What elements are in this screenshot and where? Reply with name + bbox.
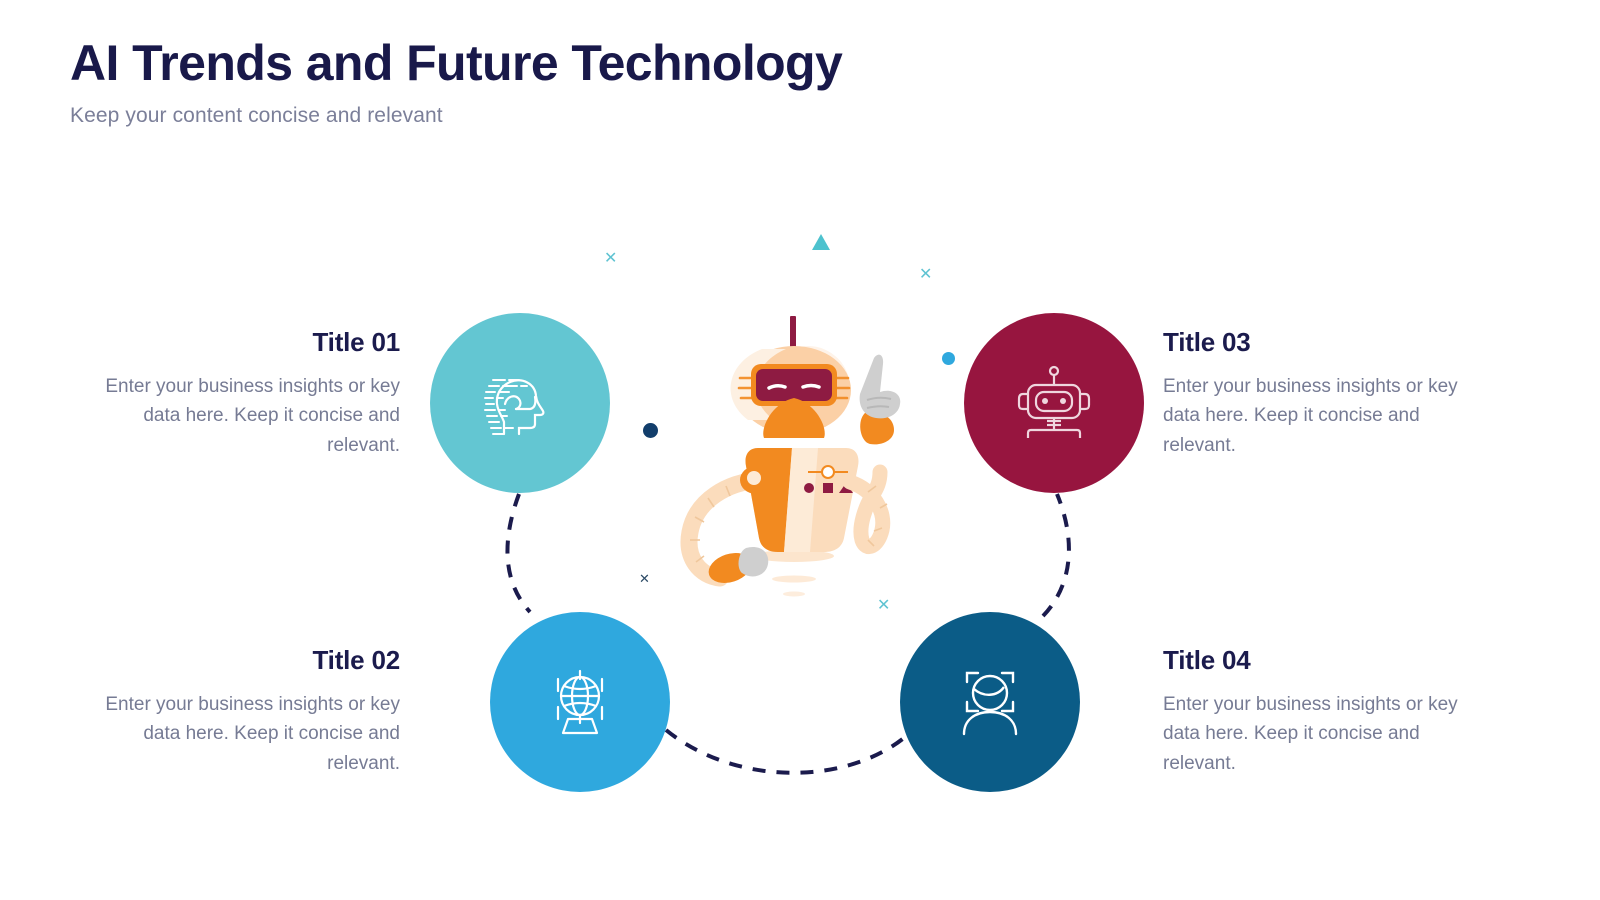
item-title-02: Title 02 <box>100 645 400 676</box>
blue-dot-marker <box>942 352 955 365</box>
item-title-04: Title 04 <box>1163 645 1463 676</box>
cross-mark-icon: ✕ <box>877 598 890 614</box>
item-title-01: Title 01 <box>100 327 400 358</box>
item-text-block-01: Title 01 Enter your business insights or… <box>100 327 400 460</box>
hologram-globe-icon <box>541 663 619 741</box>
cross-mark-icon: ✕ <box>604 251 617 267</box>
robot-head-icon <box>1014 364 1094 442</box>
item-body-02: Enter your business insights or key data… <box>100 690 400 778</box>
navy-dot-marker <box>643 423 658 438</box>
node-circle-03[interactable] <box>964 313 1144 493</box>
item-title-03: Title 03 <box>1163 327 1463 358</box>
node-circle-04[interactable] <box>900 612 1080 792</box>
item-text-block-04: Title 04 Enter your business insights or… <box>1163 645 1463 778</box>
item-body-03: Enter your business insights or key data… <box>1163 372 1463 460</box>
item-text-block-03: Title 03 Enter your business insights or… <box>1163 327 1463 460</box>
item-body-01: Enter your business insights or key data… <box>100 372 400 460</box>
ai-head-profile-icon <box>483 366 557 440</box>
ai-robot-illustration <box>668 300 918 600</box>
cross-mark-icon: ✕ <box>639 572 650 585</box>
node-circle-02[interactable] <box>490 612 670 792</box>
face-recognition-icon <box>951 664 1029 740</box>
triangle-marker-icon <box>812 234 830 250</box>
cross-mark-icon: ✕ <box>919 267 932 283</box>
item-text-block-02: Title 02 Enter your business insights or… <box>100 645 400 778</box>
node-circle-01[interactable] <box>430 313 610 493</box>
item-body-04: Enter your business insights or key data… <box>1163 690 1463 778</box>
slide-canvas: AI Trends and Future Technology Keep you… <box>0 0 1600 900</box>
